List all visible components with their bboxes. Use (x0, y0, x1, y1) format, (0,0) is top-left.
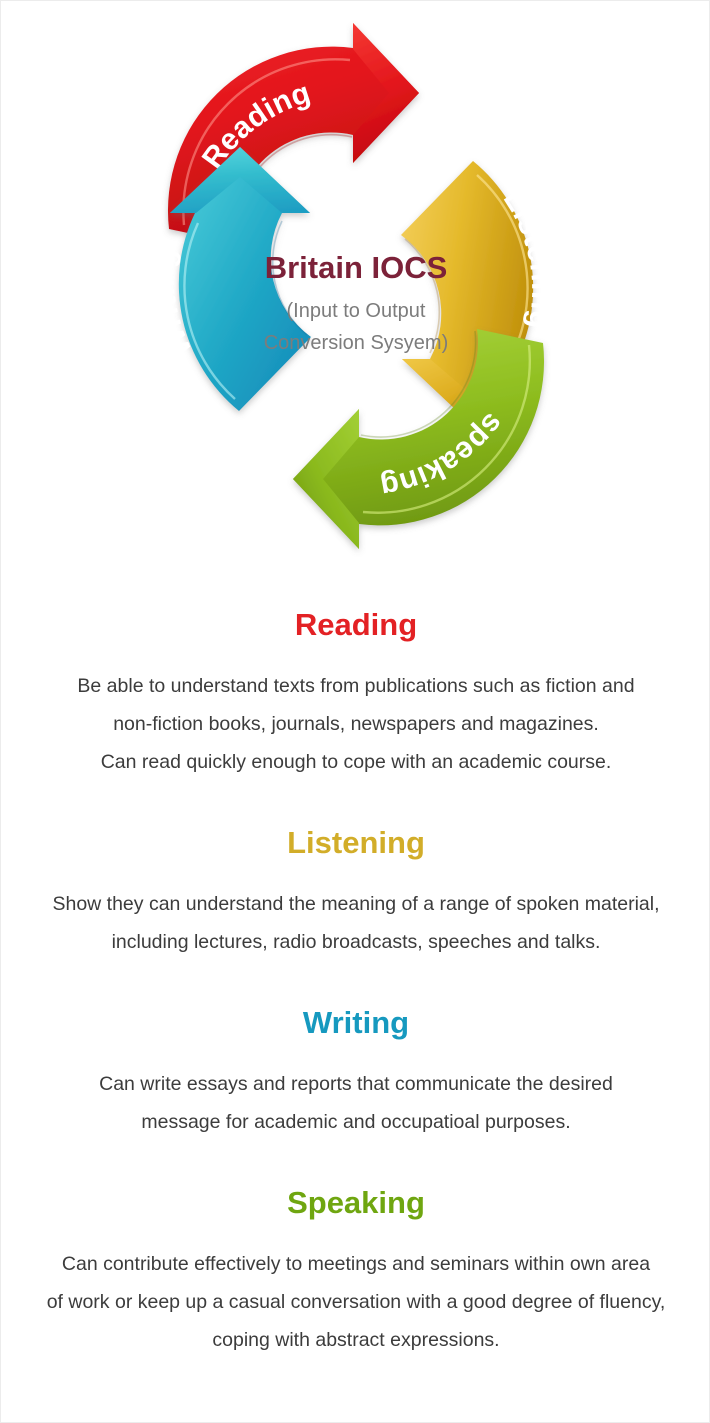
section-reading-title: Reading (15, 607, 697, 643)
page-root: Reading Listening speaking (0, 0, 710, 1423)
diagram-center-subtitle-line1: (Input to Output (287, 300, 426, 322)
diagram-center-title: Britain IOCS (265, 250, 448, 285)
section-writing: Writing Can write essays and reports tha… (1, 961, 710, 1141)
section-speaking-title: Speaking (15, 1185, 697, 1221)
section-reading-body: Be able to understand texts from publica… (15, 643, 697, 781)
section-writing-body: Can write essays and reports that commun… (15, 1041, 697, 1141)
skill-descriptions: Reading Be able to understand texts from… (1, 571, 710, 1359)
cycle-diagram: Reading Listening speaking (1, 1, 710, 571)
section-listening-body: Show they can understand the meaning of … (15, 861, 697, 961)
section-listening-title: Listening (15, 825, 697, 861)
section-reading: Reading Be able to understand texts from… (1, 571, 710, 781)
cycle-diagram-svg: Reading Listening speaking (1, 1, 710, 571)
section-listening: Listening Show they can understand the m… (1, 781, 710, 961)
section-writing-title: Writing (15, 1005, 697, 1041)
diagram-center-subtitle-line2: Conversion Sysyem) (264, 332, 449, 354)
section-speaking: Speaking Can contribute effectively to m… (1, 1141, 710, 1359)
section-speaking-body: Can contribute effectively to meetings a… (15, 1221, 697, 1359)
